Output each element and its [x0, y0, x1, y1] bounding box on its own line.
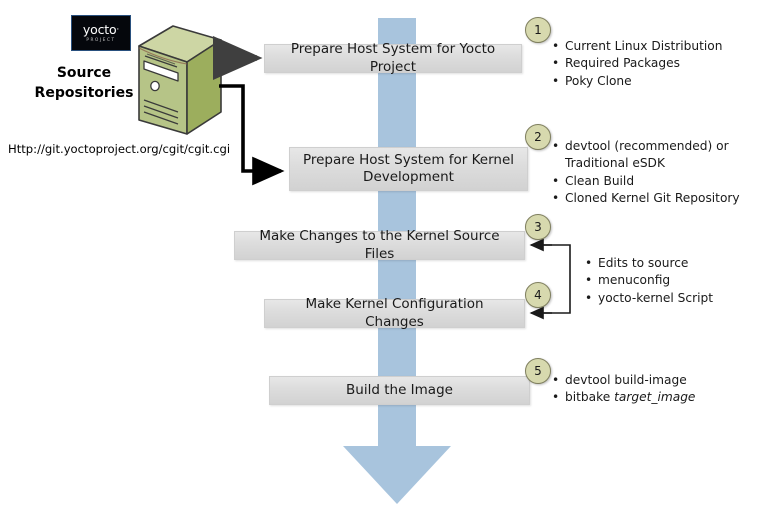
- list-item: Clean Build: [552, 173, 769, 190]
- process-box-step3-label: Make Changes to the Kernel Source Files: [245, 228, 514, 263]
- process-box-step2-line2: Development: [363, 169, 454, 185]
- list-item: Current Linux Distribution: [552, 38, 722, 55]
- process-box-step3[interactable]: Make Changes to the Kernel Source Files: [234, 231, 525, 260]
- process-box-step2[interactable]: Prepare Host System for Kernel Developme…: [289, 147, 528, 191]
- process-box-step2-line1: Prepare Host System for Kernel: [303, 152, 514, 168]
- list-item: Required Packages: [552, 55, 722, 72]
- list-item: yocto-kernel Script: [585, 290, 713, 307]
- list-item: Edits to source: [585, 255, 713, 272]
- process-box-step4-label: Make Kernel Configuration Changes: [275, 296, 514, 331]
- bullets-steps-3-4: Edits to source menuconfig yocto-kernel …: [585, 255, 713, 307]
- bullet-command: bitbake: [565, 390, 614, 404]
- process-box-step1-label: Prepare Host System for Yocto Project: [275, 41, 511, 76]
- diagram-canvas: yocto· PROJECT Source Repositories Http:…: [0, 0, 769, 517]
- bullets-step5: devtool build-image bitbake target_image: [552, 372, 695, 407]
- step-badge-1: 1: [525, 17, 551, 43]
- arrow-server-to-step2: [219, 86, 281, 171]
- bullets-step2: devtool (recommended) or Traditional eSD…: [552, 138, 769, 207]
- bullets-step1: Current Linux Distribution Required Pack…: [552, 38, 722, 90]
- list-item: menuconfig: [585, 272, 713, 289]
- step-badge-4: 4: [525, 282, 551, 308]
- list-item: devtool (recommended) or Traditional eSD…: [552, 138, 769, 173]
- process-box-step5-label: Build the Image: [346, 382, 453, 399]
- process-box-step4[interactable]: Make Kernel Configuration Changes: [264, 299, 525, 328]
- list-item: bitbake target_image: [552, 389, 695, 406]
- list-item: devtool build-image: [552, 372, 695, 389]
- list-item: Cloned Kernel Git Repository: [552, 190, 769, 207]
- process-box-step2-label: Prepare Host System for Kernel Developme…: [303, 152, 514, 187]
- step-badge-3: 3: [525, 214, 551, 240]
- step-badge-2: 2: [525, 124, 551, 150]
- list-item: Poky Clone: [552, 73, 722, 90]
- process-box-step1[interactable]: Prepare Host System for Yocto Project: [264, 44, 522, 73]
- step-badge-5: 5: [525, 358, 551, 384]
- process-box-step5[interactable]: Build the Image: [269, 376, 530, 405]
- bullet-command-arg: target_image: [614, 390, 695, 404]
